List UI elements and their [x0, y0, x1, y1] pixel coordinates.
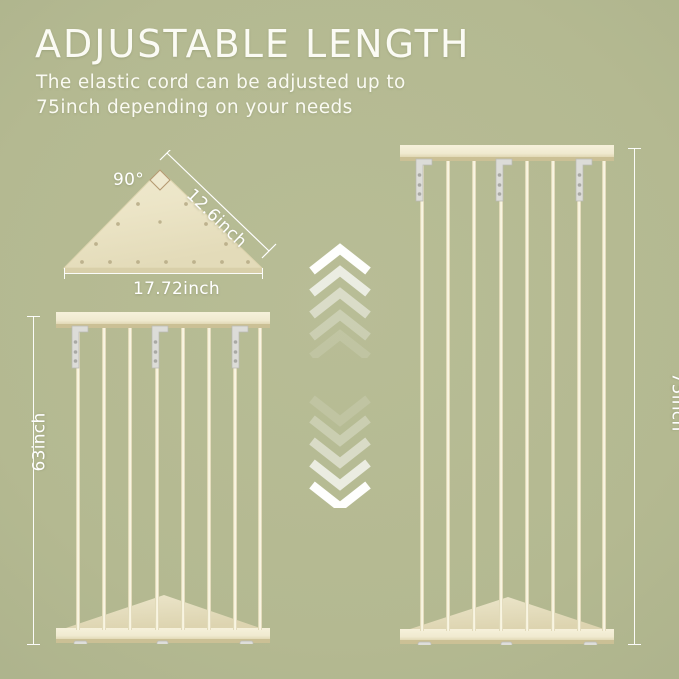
angle-label-90: 90° [113, 170, 144, 190]
height-dimension-line-left [33, 316, 34, 644]
height-dimension-cap-bottom-left [27, 644, 40, 645]
page-subtitle: The elastic cord can be adjusted up to 7… [36, 70, 466, 120]
base-dimension-cap-right [262, 268, 263, 279]
page-title: ADJUSTABLE LENGTH [35, 22, 470, 66]
gate-short [52, 312, 274, 644]
height-dimension-cap-top-left [27, 316, 40, 317]
height-label-right: 75inch [668, 372, 679, 431]
chevron-up-stack [300, 243, 380, 362]
height-dimension-cap-top-right [628, 148, 641, 149]
height-label-left: 63inch [30, 412, 50, 471]
height-dimension-line-right [634, 148, 635, 644]
chevron-down-stack [300, 393, 380, 512]
infographic-canvas: ADJUSTABLE LENGTH The elastic cord can b… [0, 0, 679, 679]
height-dimension-cap-bottom-right [628, 644, 641, 645]
base-label: 17.72inch [133, 279, 220, 299]
base-dimension-line [64, 273, 262, 274]
gate-tall [396, 145, 618, 645]
base-dimension-cap-left [64, 268, 65, 279]
